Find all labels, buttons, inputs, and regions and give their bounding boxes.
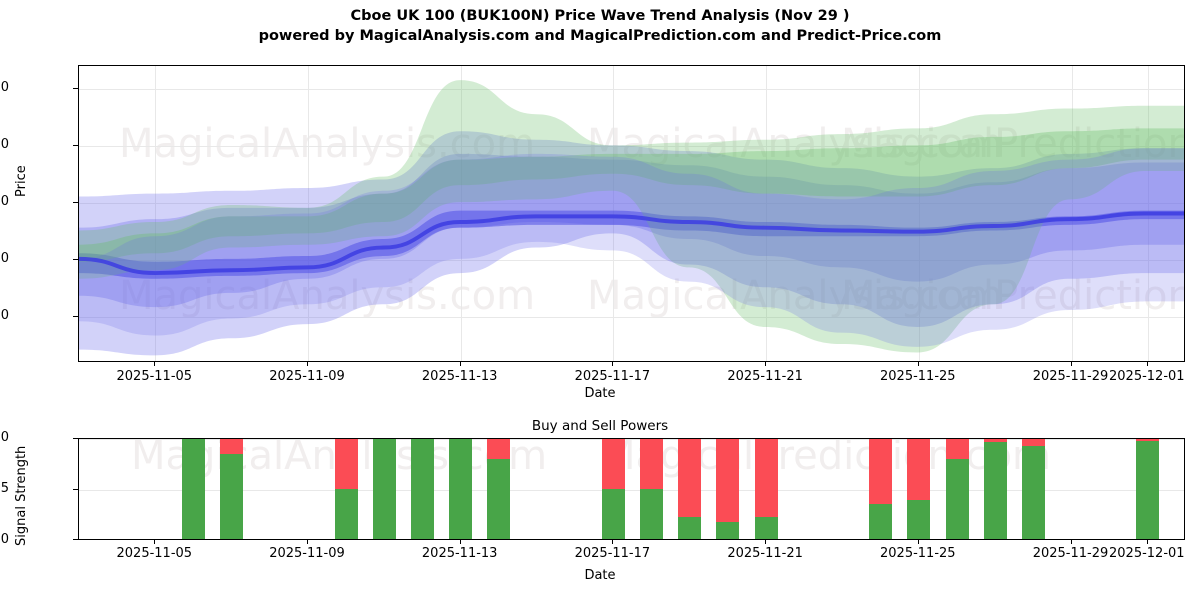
signal-bar-sell-segment — [716, 438, 739, 522]
y-tick-mark — [73, 438, 78, 439]
x-tick-label: 2025-11-25 — [880, 369, 956, 384]
y-tick-mark — [73, 489, 78, 490]
x-tick-label: 2025-11-09 — [269, 369, 345, 384]
x-tick-mark — [1147, 540, 1148, 544]
wave-band — [79, 148, 1184, 347]
signal-bar-buy-segment — [373, 438, 396, 539]
signal-bar — [487, 438, 510, 539]
signal-bar-sell-segment — [678, 438, 701, 517]
y-tick-mark — [73, 539, 78, 540]
x-tick-label: 2025-12-01 — [1109, 546, 1185, 561]
signal-bar-buy-segment — [220, 454, 243, 539]
x-tick-label: 2025-11-09 — [269, 546, 345, 561]
title-main: Cboe UK 100 (BUK100N) Price Wave Trend A… — [0, 6, 1200, 26]
signal-bar-buy-segment — [640, 489, 663, 539]
signal-bar-buy-segment — [716, 522, 739, 539]
signal-bar-sell-segment — [907, 438, 930, 500]
x-tick-label: 2025-11-21 — [727, 546, 803, 561]
signal-bar-buy-segment — [678, 517, 701, 539]
gridline-horizontal — [79, 439, 1184, 440]
signal-plot-area: MagicalAnalysis.comMagicalPrediction.com — [78, 438, 1185, 540]
x-tick-mark — [460, 540, 461, 544]
x-tick-mark — [765, 362, 766, 366]
signal-bar — [449, 438, 472, 539]
signal-bar-sell-segment — [487, 438, 510, 459]
x-tick-mark — [1071, 362, 1072, 366]
y-tick-label: 1100 — [0, 251, 9, 266]
x-tick-mark — [460, 362, 461, 366]
signal-bar-buy-segment — [335, 489, 358, 539]
signal-bar-sell-segment — [755, 438, 778, 517]
y-tick-mark — [73, 202, 78, 203]
x-tick-label: 2025-11-25 — [880, 546, 956, 561]
y-tick-mark — [73, 145, 78, 146]
x-tick-label: 2025-11-29 — [1033, 369, 1109, 384]
y-tick-label: 1110 — [0, 194, 9, 209]
signal-bar — [716, 438, 739, 539]
x-tick-label: 2025-11-13 — [422, 546, 498, 561]
gridline-horizontal — [79, 490, 1184, 491]
signal-bar-buy-segment — [1136, 441, 1159, 539]
y-tick-label: 1120 — [0, 137, 9, 152]
price-x-axis-title: Date — [0, 386, 1200, 401]
signal-bar-buy-segment — [755, 517, 778, 539]
signal-bar-sell-segment — [640, 438, 663, 489]
signal-bar-sell-segment — [869, 438, 892, 504]
page-title: Cboe UK 100 (BUK100N) Price Wave Trend A… — [0, 6, 1200, 46]
price-chart-panel: MagicalAnalysis.comMagicalAnalysis.comMa… — [78, 65, 1185, 362]
signal-x-axis-title: Date — [0, 568, 1200, 583]
y-tick-label: 0.0 — [0, 532, 9, 547]
x-tick-label: 2025-11-17 — [575, 546, 651, 561]
signal-bar — [755, 438, 778, 539]
y-tick-label: 1130 — [0, 80, 9, 95]
x-tick-mark — [307, 362, 308, 366]
signal-bar — [946, 438, 969, 539]
signal-bar — [335, 438, 358, 539]
signal-bar — [869, 438, 892, 539]
title-subtitle: powered by MagicalAnalysis.com and Magic… — [0, 26, 1200, 46]
x-tick-label: 2025-12-01 — [1109, 369, 1185, 384]
signal-bar-sell-segment — [220, 438, 243, 454]
signal-bar — [1136, 438, 1159, 539]
x-tick-label: 2025-11-05 — [117, 369, 193, 384]
y-tick-mark — [73, 316, 78, 317]
y-tick-label: 1090 — [0, 308, 9, 323]
x-tick-mark — [1071, 540, 1072, 544]
signal-bar-buy-segment — [869, 504, 892, 539]
signal-bar — [220, 438, 243, 539]
x-tick-mark — [1147, 362, 1148, 366]
x-tick-label: 2025-11-05 — [117, 546, 193, 561]
signal-bar-buy-segment — [182, 438, 205, 539]
signal-y-axis-title: Signal Strength — [14, 446, 29, 546]
signal-bar-buy-segment — [411, 438, 434, 539]
signal-bar — [373, 438, 396, 539]
x-tick-mark — [765, 540, 766, 544]
signal-bar — [602, 438, 625, 539]
signal-bar-buy-segment — [602, 489, 625, 539]
signal-bar — [182, 438, 205, 539]
signal-bar-buy-segment — [946, 459, 969, 539]
price-y-axis-title: Price — [14, 165, 29, 197]
signal-bar-buy-segment — [984, 442, 1007, 539]
signal-bar-buy-segment — [449, 438, 472, 539]
price-wave-bands — [79, 66, 1184, 361]
x-tick-label: 2025-11-29 — [1033, 546, 1109, 561]
x-tick-label: 2025-11-17 — [575, 369, 651, 384]
signal-bar — [1022, 438, 1045, 539]
signal-bar-sell-segment — [946, 438, 969, 459]
x-tick-mark — [307, 540, 308, 544]
signal-bar-sell-segment — [335, 438, 358, 489]
signal-chart-title: Buy and Sell Powers — [0, 418, 1200, 434]
signal-bar — [678, 438, 701, 539]
x-tick-label: 2025-11-21 — [727, 369, 803, 384]
signal-bar — [411, 438, 434, 539]
signal-bar-sell-segment — [1022, 438, 1045, 446]
signal-chart-panel: MagicalAnalysis.comMagicalPrediction.com — [78, 438, 1185, 540]
y-tick-mark — [73, 88, 78, 89]
signal-bar — [907, 438, 930, 539]
signal-bar-buy-segment — [1022, 446, 1045, 539]
x-tick-mark — [154, 540, 155, 544]
x-tick-mark — [918, 362, 919, 366]
x-tick-mark — [154, 362, 155, 366]
signal-bar-buy-segment — [487, 459, 510, 539]
chart-page: Cboe UK 100 (BUK100N) Price Wave Trend A… — [0, 0, 1200, 600]
x-tick-mark — [612, 362, 613, 366]
x-tick-mark — [612, 540, 613, 544]
signal-bar-buy-segment — [907, 500, 930, 539]
signal-bar — [984, 438, 1007, 539]
signal-bar-sell-segment — [602, 438, 625, 489]
y-tick-label: 1.0 — [0, 430, 9, 445]
signal-bar — [640, 438, 663, 539]
y-tick-label: 0.5 — [0, 481, 9, 496]
x-tick-mark — [918, 540, 919, 544]
price-plot-area: MagicalAnalysis.comMagicalAnalysis.comMa… — [78, 65, 1185, 362]
x-tick-label: 2025-11-13 — [422, 369, 498, 384]
y-tick-mark — [73, 259, 78, 260]
